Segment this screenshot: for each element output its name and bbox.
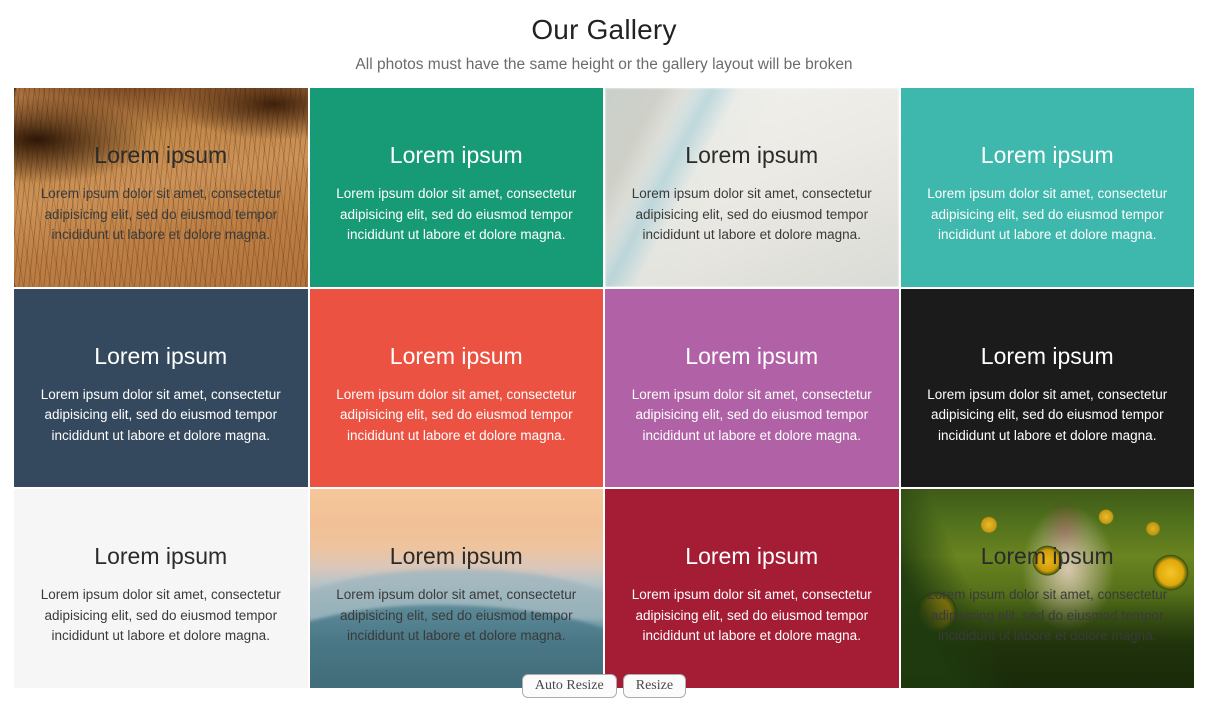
- gallery-card-title: Lorem ipsum: [913, 140, 1183, 170]
- gallery-grid: Lorem ipsumLorem ipsum dolor sit amet, c…: [14, 88, 1194, 688]
- gallery-card[interactable]: Lorem ipsumLorem ipsum dolor sit amet, c…: [901, 289, 1195, 488]
- gallery-card-body: Lorem ipsumLorem ipsum dolor sit amet, c…: [310, 140, 604, 246]
- gallery-card-text: Lorem ipsum dolor sit amet, consectetur …: [617, 184, 887, 246]
- gallery-card-text: Lorem ipsum dolor sit amet, consectetur …: [617, 585, 887, 647]
- page-title: Our Gallery: [0, 10, 1208, 50]
- gallery-card-body: Lorem ipsumLorem ipsum dolor sit amet, c…: [901, 341, 1195, 447]
- gallery-card-body: Lorem ipsumLorem ipsum dolor sit amet, c…: [14, 140, 308, 246]
- gallery-card-body: Lorem ipsumLorem ipsum dolor sit amet, c…: [14, 341, 308, 447]
- gallery-card-text: Lorem ipsum dolor sit amet, consectetur …: [26, 184, 296, 246]
- gallery-card[interactable]: Lorem ipsumLorem ipsum dolor sit amet, c…: [901, 88, 1195, 287]
- page-header: Our Gallery All photos must have the sam…: [0, 0, 1208, 77]
- gallery-card-body: Lorem ipsumLorem ipsum dolor sit amet, c…: [901, 541, 1195, 647]
- gallery-card-title: Lorem ipsum: [26, 541, 296, 571]
- gallery-card[interactable]: Lorem ipsumLorem ipsum dolor sit amet, c…: [605, 88, 899, 287]
- gallery-card-title: Lorem ipsum: [913, 341, 1183, 371]
- gallery-card-title: Lorem ipsum: [26, 140, 296, 170]
- gallery-card[interactable]: Lorem ipsumLorem ipsum dolor sit amet, c…: [901, 489, 1195, 688]
- gallery-card-title: Lorem ipsum: [26, 341, 296, 371]
- gallery-card-body: Lorem ipsumLorem ipsum dolor sit amet, c…: [605, 541, 899, 647]
- resize-button[interactable]: Resize: [623, 674, 686, 698]
- gallery-card-text: Lorem ipsum dolor sit amet, consectetur …: [322, 585, 592, 647]
- footer-controls: Auto Resize Resize: [0, 674, 1208, 698]
- gallery-page: Our Gallery All photos must have the sam…: [0, 0, 1208, 704]
- gallery-card[interactable]: Lorem ipsumLorem ipsum dolor sit amet, c…: [14, 88, 308, 287]
- auto-resize-button[interactable]: Auto Resize: [522, 674, 617, 698]
- gallery-card-text: Lorem ipsum dolor sit amet, consectetur …: [26, 385, 296, 447]
- gallery-card-title: Lorem ipsum: [322, 541, 592, 571]
- gallery-card-body: Lorem ipsumLorem ipsum dolor sit amet, c…: [605, 140, 899, 246]
- gallery-card-text: Lorem ipsum dolor sit amet, consectetur …: [617, 385, 887, 447]
- gallery-card-body: Lorem ipsumLorem ipsum dolor sit amet, c…: [310, 341, 604, 447]
- gallery-card-title: Lorem ipsum: [617, 341, 887, 371]
- gallery-card[interactable]: Lorem ipsumLorem ipsum dolor sit amet, c…: [605, 489, 899, 688]
- gallery-card[interactable]: Lorem ipsumLorem ipsum dolor sit amet, c…: [310, 88, 604, 287]
- gallery-card[interactable]: Lorem ipsumLorem ipsum dolor sit amet, c…: [310, 489, 604, 688]
- gallery-card[interactable]: Lorem ipsumLorem ipsum dolor sit amet, c…: [310, 289, 604, 488]
- gallery-card-text: Lorem ipsum dolor sit amet, consectetur …: [913, 184, 1183, 246]
- gallery-card[interactable]: Lorem ipsumLorem ipsum dolor sit amet, c…: [14, 489, 308, 688]
- gallery-card-text: Lorem ipsum dolor sit amet, consectetur …: [322, 184, 592, 246]
- page-subtitle: All photos must have the same height or …: [0, 50, 1208, 77]
- gallery-card-body: Lorem ipsumLorem ipsum dolor sit amet, c…: [14, 541, 308, 647]
- gallery-card-title: Lorem ipsum: [913, 541, 1183, 571]
- gallery-card-text: Lorem ipsum dolor sit amet, consectetur …: [913, 385, 1183, 447]
- gallery-card-body: Lorem ipsumLorem ipsum dolor sit amet, c…: [605, 341, 899, 447]
- gallery-card-title: Lorem ipsum: [322, 140, 592, 170]
- gallery-card-title: Lorem ipsum: [617, 541, 887, 571]
- gallery-card-title: Lorem ipsum: [322, 341, 592, 371]
- gallery-card-text: Lorem ipsum dolor sit amet, consectetur …: [26, 585, 296, 647]
- gallery-card-text: Lorem ipsum dolor sit amet, consectetur …: [322, 385, 592, 447]
- gallery-card-body: Lorem ipsumLorem ipsum dolor sit amet, c…: [901, 140, 1195, 246]
- gallery-card-title: Lorem ipsum: [617, 140, 887, 170]
- gallery-card-text: Lorem ipsum dolor sit amet, consectetur …: [913, 585, 1183, 647]
- gallery-card-body: Lorem ipsumLorem ipsum dolor sit amet, c…: [310, 541, 604, 647]
- gallery-card[interactable]: Lorem ipsumLorem ipsum dolor sit amet, c…: [14, 289, 308, 488]
- gallery-card[interactable]: Lorem ipsumLorem ipsum dolor sit amet, c…: [605, 289, 899, 488]
